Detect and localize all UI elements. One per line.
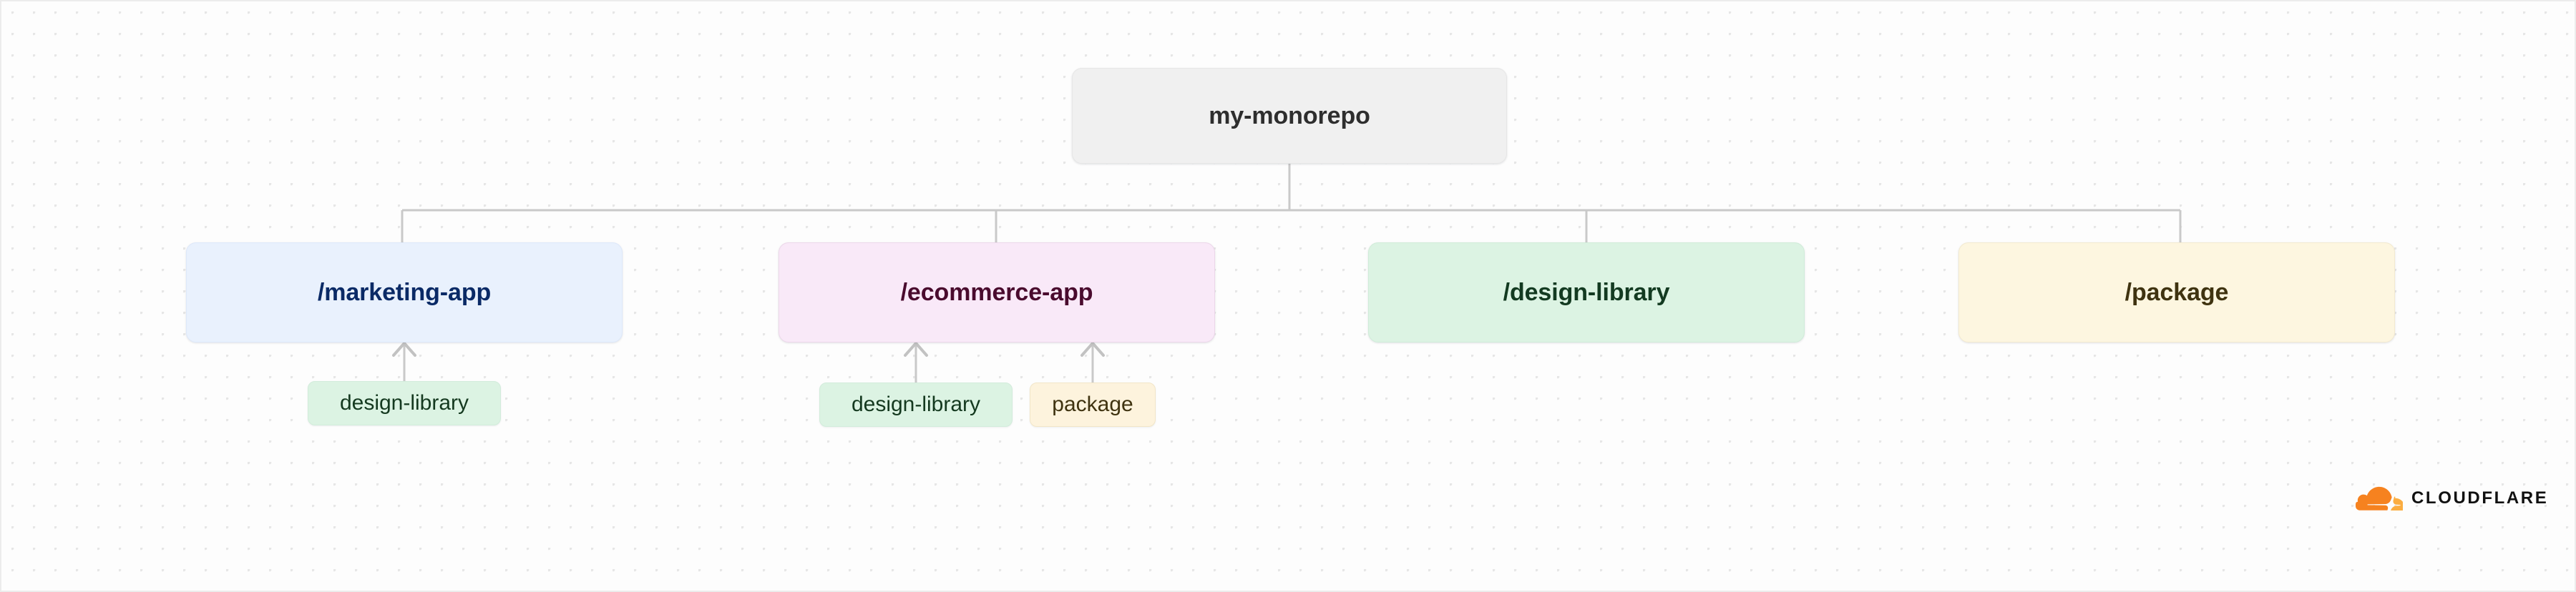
cloudflare-cloud-icon [2356,486,2403,510]
node-my-monorepo[interactable]: my-monorepo [1072,68,1507,164]
node-marketing-app[interactable]: /marketing-app [186,242,623,342]
dependency-tag-ecommerce-package[interactable]: package [1030,383,1156,427]
node-label: /design-library [1503,279,1670,307]
arrowhead-ecommerce-package [1082,343,1103,355]
node-ecommerce-app[interactable]: /ecommerce-app [779,242,1215,342]
dependency-tag-label: design-library [852,393,980,417]
cloudflare-brand: CLOUDFLARE [2356,486,2548,510]
node-label: my-monorepo [1209,102,1370,130]
node-label: /ecommerce-app [901,279,1093,307]
dependency-tag-label: package [1052,393,1133,417]
cloudflare-wordmark: CLOUDFLARE [2411,488,2548,508]
dependency-tag-marketing-design-library[interactable]: design-library [308,381,501,425]
arrowhead-marketing-design-library [394,343,415,355]
dependency-tag-ecommerce-design-library[interactable]: design-library [819,383,1013,427]
node-label: /marketing-app [318,279,491,307]
node-package[interactable]: /package [1958,242,2395,342]
dependency-tag-label: design-library [340,391,469,415]
diagram-canvas: my-monorepo /marketing-app /ecommerce-ap… [0,0,2576,592]
arrowhead-ecommerce-design-library [905,343,927,355]
node-design-library[interactable]: /design-library [1368,242,1805,342]
node-label: /package [2125,279,2229,307]
